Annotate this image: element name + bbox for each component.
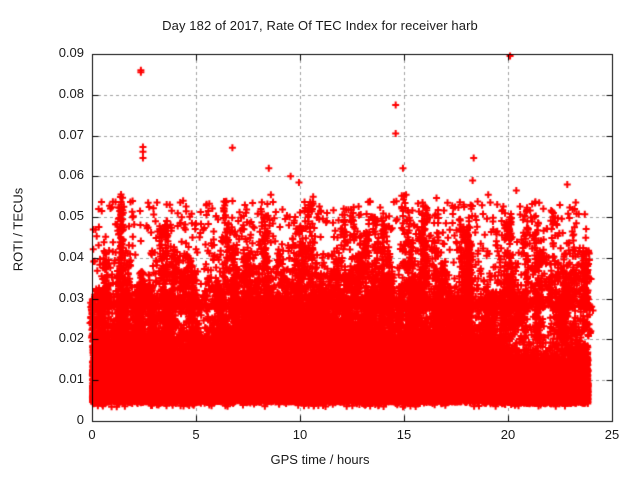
roti-scatter-plot-figure: Day 182 of 2017, Rate Of TEC Index for r…	[0, 0, 640, 480]
plot-canvas	[0, 0, 640, 480]
